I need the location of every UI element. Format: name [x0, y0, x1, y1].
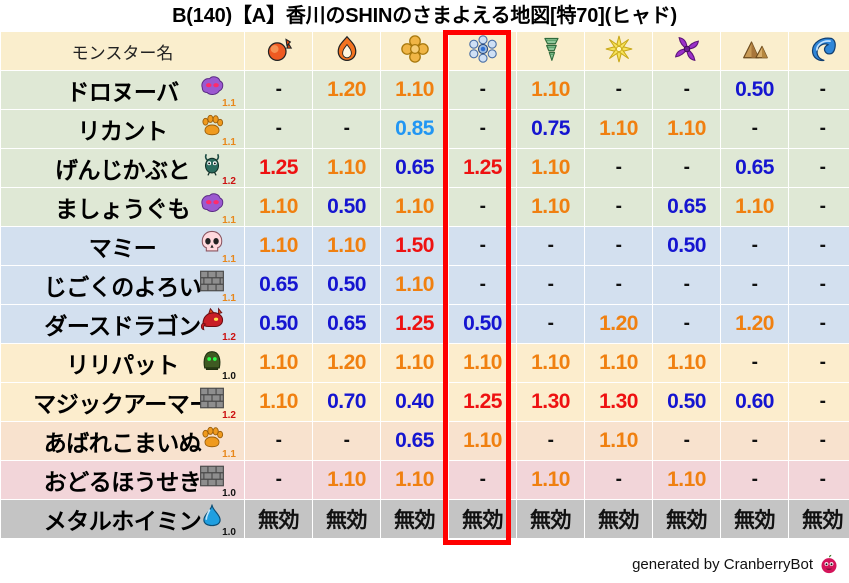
resistance-cell[interactable]: 1.10 — [653, 344, 720, 382]
resistance-value: 0.65 — [395, 156, 434, 179]
column-header-monster-name: モンスター名 — [1, 32, 244, 70]
resistance-cell[interactable]: 1.25 — [449, 383, 516, 421]
table-header: モンスター名 — [1, 32, 849, 70]
monster-icon-group: 1.1 — [196, 190, 236, 224]
resistance-value: 0.85 — [395, 117, 434, 140]
resistance-cell[interactable]: - — [653, 305, 720, 343]
table-row: おどるほうせき1.0-1.101.10-1.10-1.10-- — [1, 461, 849, 499]
resistance-value: 0.75 — [531, 117, 570, 140]
resistance-value: 1.50 — [395, 234, 434, 257]
resistance-cell[interactable]: - — [789, 383, 849, 421]
resistance-value: 0.65 — [395, 429, 434, 452]
resistance-cell[interactable]: 無効 — [721, 500, 788, 538]
monster-name-cell[interactable]: リカント1.1 — [1, 110, 244, 148]
table-row: リカント1.1--0.85-0.751.101.10-- — [1, 110, 849, 148]
resistance-cell[interactable]: - — [517, 266, 584, 304]
resistance-cell[interactable]: - — [585, 149, 652, 187]
skull-icon — [199, 229, 225, 255]
resistance-cell[interactable]: - — [789, 344, 849, 382]
resistance-value: - — [752, 118, 758, 139]
resistance-cell[interactable]: - — [653, 71, 720, 109]
table-row: げんじかぶと1.21.251.100.651.251.10--0.65- — [1, 149, 849, 187]
resistance-cell[interactable]: 1.20 — [313, 71, 380, 109]
resistance-cell[interactable]: 1.10 — [381, 188, 448, 226]
resistance-cell[interactable]: 1.10 — [517, 188, 584, 226]
resistance-value: - — [548, 274, 554, 295]
resistance-cell[interactable]: 1.50 — [381, 227, 448, 265]
monster-version-badge: 1.0 — [222, 489, 236, 499]
table-row: マミー1.11.101.101.50---0.50-- — [1, 227, 849, 265]
resistance-cell[interactable]: 無効 — [449, 500, 516, 538]
monster-icon-group: 1.1 — [196, 268, 236, 302]
resistance-value: 1.25 — [395, 312, 434, 335]
resistance-value: 1.10 — [735, 195, 774, 218]
monster-version-badge: 1.1 — [222, 99, 236, 109]
resistance-cell[interactable]: 1.10 — [449, 422, 516, 460]
resistance-cell[interactable]: 1.10 — [721, 188, 788, 226]
resistance-value: - — [820, 430, 826, 451]
resistance-value: 0.50 — [667, 390, 706, 413]
monster-name-label: メタルホイミン — [44, 502, 202, 536]
resistance-value: 1.10 — [395, 468, 434, 491]
resistance-cell[interactable]: 1.10 — [313, 227, 380, 265]
purple-blob-icon — [199, 73, 225, 99]
table-row: じごくのよろい1.10.650.501.10------ — [1, 266, 849, 304]
resistance-cell[interactable]: 1.10 — [517, 149, 584, 187]
monster-name-cell[interactable]: リリパット1.0 — [1, 344, 244, 382]
column-header-dark-vortex[interactable] — [653, 32, 720, 70]
resistance-cell[interactable]: - — [245, 422, 312, 460]
resistance-cell[interactable]: 0.50 — [449, 305, 516, 343]
resistance-value: - — [548, 430, 554, 451]
monster-name-label: あばれこまいぬ — [44, 424, 202, 458]
resistance-cell[interactable]: 1.10 — [517, 344, 584, 382]
resistance-cell[interactable]: 無効 — [313, 500, 380, 538]
resistance-value: 1.20 — [735, 312, 774, 335]
resistance-cell[interactable]: - — [585, 266, 652, 304]
resistance-cell[interactable]: 1.10 — [313, 149, 380, 187]
resistance-cell[interactable]: 1.10 — [245, 227, 312, 265]
paw-icon — [199, 424, 225, 450]
paw-icon — [199, 112, 225, 138]
monster-name-label: げんじかぶと — [55, 151, 190, 185]
monster-name-cell[interactable]: じごくのよろい1.1 — [1, 266, 244, 304]
resistance-value: - — [752, 235, 758, 256]
table-row: マジックアーマー1.21.100.700.401.251.301.300.500… — [1, 383, 849, 421]
resistance-value: 1.25 — [463, 390, 502, 413]
resistance-cell[interactable]: - — [789, 71, 849, 109]
resistance-cell[interactable]: 1.10 — [517, 461, 584, 499]
resistance-value: 0.50 — [667, 234, 706, 257]
resistance-cell[interactable]: - — [517, 422, 584, 460]
resistance-cell[interactable]: 1.20 — [313, 344, 380, 382]
resistance-cell[interactable]: - — [313, 422, 380, 460]
resistance-value: - — [276, 118, 282, 139]
resistance-value: 0.50 — [327, 195, 366, 218]
monster-icon-group: 1.1 — [196, 229, 236, 263]
resistance-value: 1.10 — [259, 351, 298, 374]
dark-vortex-icon — [673, 35, 701, 63]
resistance-value: 0.50 — [259, 312, 298, 335]
monster-name-label: ましょうぐも — [55, 190, 190, 224]
resistance-cell[interactable]: 1.20 — [585, 305, 652, 343]
resistance-value: 1.10 — [395, 78, 434, 101]
monster-icon-group: 1.1 — [196, 424, 236, 458]
resistance-cell[interactable]: - — [449, 227, 516, 265]
page-title: B(140)【A】香川のSHINのさまよえる地図[特70](ヒャド) — [0, 2, 849, 30]
resistance-cell[interactable]: 無効 — [585, 500, 652, 538]
resistance-value: - — [616, 157, 622, 178]
resistance-value: - — [752, 352, 758, 373]
resistance-cell[interactable]: 0.40 — [381, 383, 448, 421]
resistance-cell[interactable]: - — [721, 110, 788, 148]
cranberry-icon — [819, 554, 839, 574]
resistance-value: 無効 — [598, 509, 639, 532]
resistance-cell[interactable]: - — [585, 461, 652, 499]
header-row: モンスター名 — [1, 32, 849, 70]
resistance-cell[interactable]: 1.10 — [585, 344, 652, 382]
resistance-value: 0.65 — [259, 273, 298, 296]
resistance-value: - — [480, 469, 486, 490]
resistance-cell[interactable]: 1.10 — [245, 383, 312, 421]
resistance-value: - — [820, 118, 826, 139]
resistance-value: 0.60 — [735, 390, 774, 413]
resistance-value: - — [820, 235, 826, 256]
resistance-value: 1.30 — [531, 390, 570, 413]
resistance-cell[interactable]: 0.65 — [313, 305, 380, 343]
monster-icon-group: 1.0 — [196, 346, 236, 380]
resistance-value: 0.70 — [327, 390, 366, 413]
monster-name-label: おどるほうせき — [44, 463, 202, 497]
resistance-value: 1.10 — [667, 117, 706, 140]
resistance-value: 1.20 — [327, 78, 366, 101]
monster-version-badge: 1.1 — [222, 294, 236, 304]
screenshot-root: B(140)【A】香川のSHINのさまよえる地図[特70](ヒャド) モンスター… — [0, 0, 849, 583]
blue-slime-icon — [199, 502, 225, 528]
resistance-value: - — [820, 274, 826, 295]
resistance-cell[interactable]: - — [653, 149, 720, 187]
resistance-cell[interactable]: - — [653, 422, 720, 460]
resistance-cell[interactable]: - — [585, 188, 652, 226]
resistance-value: 0.65 — [735, 156, 774, 179]
footer-text: generated by CranberryBot — [632, 556, 813, 573]
resistance-value: 1.25 — [259, 156, 298, 179]
resistance-value: - — [820, 391, 826, 412]
resistance-value: 1.10 — [395, 351, 434, 374]
monster-name-label: リカント — [78, 112, 168, 146]
resistance-cell[interactable]: - — [789, 110, 849, 148]
monster-name-cell[interactable]: ドロヌーバ1.1 — [1, 71, 244, 109]
resistance-cell[interactable]: 1.30 — [517, 383, 584, 421]
resistance-value: 1.10 — [667, 468, 706, 491]
resistance-cell[interactable]: 1.10 — [653, 110, 720, 148]
resistance-value: - — [684, 313, 690, 334]
resistance-cell[interactable]: - — [245, 110, 312, 148]
resistance-value: - — [820, 79, 826, 100]
resistance-cell[interactable]: 0.65 — [245, 266, 312, 304]
monster-name-cell[interactable]: マミー1.1 — [1, 227, 244, 265]
monster-icon-group: 1.2 — [196, 307, 236, 341]
resistance-value: 1.10 — [463, 429, 502, 452]
resistance-value: 1.10 — [531, 195, 570, 218]
resistance-cell[interactable]: 0.60 — [721, 383, 788, 421]
table-row: リリパット1.01.101.201.101.101.101.101.10-- — [1, 344, 849, 382]
resistance-cell[interactable]: 無効 — [381, 500, 448, 538]
resistance-cell[interactable]: 0.50 — [313, 188, 380, 226]
resistance-cell[interactable]: - — [245, 461, 312, 499]
resistance-cell[interactable]: - — [789, 305, 849, 343]
column-header-light-flash[interactable] — [585, 32, 652, 70]
monster-version-badge: 1.0 — [222, 372, 236, 382]
resistance-cell[interactable]: 無効 — [517, 500, 584, 538]
purple-blob-icon — [199, 190, 225, 216]
flame-icon — [333, 35, 361, 63]
resistance-cell[interactable]: - — [449, 71, 516, 109]
resistance-value: 1.20 — [327, 351, 366, 374]
monster-icon-group: 1.2 — [196, 385, 236, 419]
resistance-value: - — [480, 235, 486, 256]
resistance-value: 無効 — [326, 509, 367, 532]
resistance-value: - — [752, 430, 758, 451]
resistance-value: 無効 — [530, 509, 571, 532]
light-flash-icon — [605, 35, 633, 63]
resistance-cell[interactable]: 0.75 — [517, 110, 584, 148]
resistance-value: - — [616, 79, 622, 100]
monster-version-badge: 1.0 — [222, 528, 236, 538]
monster-version-badge: 1.2 — [222, 177, 236, 187]
resistance-cell[interactable]: - — [585, 71, 652, 109]
monster-name-cell[interactable]: げんじかぶと1.2 — [1, 149, 244, 187]
resistance-value: - — [344, 430, 350, 451]
resistance-cell[interactable]: 1.20 — [721, 305, 788, 343]
resistance-value: 1.10 — [327, 468, 366, 491]
resistance-cell[interactable]: 0.65 — [381, 149, 448, 187]
resistance-cell[interactable]: - — [721, 266, 788, 304]
resistance-cell[interactable]: - — [313, 110, 380, 148]
resistance-cell[interactable]: 無効 — [245, 500, 312, 538]
resistance-cell[interactable]: 1.25 — [381, 305, 448, 343]
resistance-value: - — [752, 274, 758, 295]
column-header-water-wave[interactable] — [789, 32, 849, 70]
resistance-value: 1.10 — [395, 195, 434, 218]
monster-version-badge: 1.1 — [222, 216, 236, 226]
resistance-cell[interactable]: 0.50 — [721, 71, 788, 109]
resistance-value: 1.10 — [463, 351, 502, 374]
resistance-cell[interactable]: 1.10 — [381, 266, 448, 304]
resistance-cell[interactable]: - — [721, 422, 788, 460]
resistance-cell[interactable]: - — [721, 461, 788, 499]
brick-wall-icon — [199, 268, 225, 294]
resistance-cell[interactable]: 1.25 — [449, 149, 516, 187]
green-helmet-icon — [199, 346, 225, 372]
monster-name-label: マジックアーマー — [33, 385, 212, 419]
resistance-value: - — [684, 157, 690, 178]
earth-rock-icon — [741, 35, 769, 63]
resistance-value: 1.10 — [531, 351, 570, 374]
monster-name-cell[interactable]: ダースドラゴン1.2 — [1, 305, 244, 343]
footer-credit: generated by CranberryBot — [632, 551, 839, 577]
resistance-cell[interactable]: 1.10 — [653, 461, 720, 499]
monster-icon-group: 1.1 — [196, 73, 236, 107]
resistance-value: - — [480, 196, 486, 217]
resistance-cell[interactable]: - — [789, 149, 849, 187]
ice-crystal-icon — [469, 35, 497, 63]
meteor-fire-icon — [265, 35, 293, 63]
resistance-cell[interactable]: - — [789, 188, 849, 226]
resistance-cell[interactable]: - — [789, 227, 849, 265]
resistance-value: 1.10 — [259, 195, 298, 218]
resistance-value: - — [616, 235, 622, 256]
resistance-value: 0.50 — [463, 312, 502, 335]
resistance-value: 1.10 — [599, 351, 638, 374]
resistance-cell[interactable]: - — [449, 461, 516, 499]
monster-name-cell[interactable]: マジックアーマー1.2 — [1, 383, 244, 421]
resistance-table-container: モンスター名 ドロヌーバ1.1-1.201.10-1.10--0.50-リカント… — [0, 31, 849, 539]
resistance-value: - — [820, 313, 826, 334]
monster-version-badge: 1.1 — [222, 450, 236, 460]
monster-name-label: じごくのよろい — [44, 268, 202, 302]
resistance-value: 1.10 — [599, 117, 638, 140]
table-row: ドロヌーバ1.1-1.201.10-1.10--0.50- — [1, 71, 849, 109]
monster-name-cell[interactable]: あばれこまいぬ1.1 — [1, 422, 244, 460]
resistance-value: 1.10 — [599, 429, 638, 452]
resistance-value: - — [548, 235, 554, 256]
resistance-value: 1.30 — [599, 390, 638, 413]
resistance-value: 無効 — [258, 509, 299, 532]
resistance-value: 1.20 — [599, 312, 638, 335]
resistance-cell[interactable]: 1.10 — [381, 344, 448, 382]
resistance-cell[interactable]: 1.25 — [245, 149, 312, 187]
resistance-cell[interactable]: 0.65 — [721, 149, 788, 187]
monster-icon-group: 1.0 — [196, 502, 236, 536]
resistance-cell[interactable]: 1.30 — [585, 383, 652, 421]
resistance-value: 無効 — [734, 509, 775, 532]
resistance-cell[interactable]: 1.10 — [449, 344, 516, 382]
resistance-value: - — [480, 274, 486, 295]
resistance-value: 1.25 — [463, 156, 502, 179]
resistance-cell[interactable]: 0.50 — [653, 383, 720, 421]
red-dragon-icon — [199, 307, 225, 333]
resistance-cell[interactable]: - — [245, 71, 312, 109]
resistance-value: 1.10 — [531, 156, 570, 179]
resistance-value: 1.10 — [531, 78, 570, 101]
brick-wall-icon — [199, 463, 225, 489]
column-header-ice-crystal[interactable] — [449, 32, 516, 70]
resistance-value: - — [684, 274, 690, 295]
resistance-cell[interactable]: - — [449, 188, 516, 226]
resistance-value: 無効 — [666, 509, 707, 532]
table-row: ましょうぐも1.11.100.501.10-1.10-0.651.10- — [1, 188, 849, 226]
resistance-value: - — [616, 196, 622, 217]
resistance-value: 1.10 — [327, 234, 366, 257]
resistance-value: 0.40 — [395, 390, 434, 413]
resistance-cell[interactable]: 1.10 — [517, 71, 584, 109]
resistance-cell[interactable]: 0.65 — [381, 422, 448, 460]
brick-wall-icon — [199, 385, 225, 411]
resistance-value: 1.10 — [259, 390, 298, 413]
column-header-tornado[interactable] — [517, 32, 584, 70]
column-header-flame[interactable] — [313, 32, 380, 70]
table-body: ドロヌーバ1.1-1.201.10-1.10--0.50-リカント1.1--0.… — [1, 71, 849, 538]
resistance-value: 無効 — [802, 509, 843, 532]
resistance-cell[interactable]: 1.10 — [585, 110, 652, 148]
resistance-cell[interactable]: 1.10 — [585, 422, 652, 460]
column-header-explosion[interactable] — [381, 32, 448, 70]
resistance-cell[interactable]: 0.65 — [653, 188, 720, 226]
monster-version-badge: 1.1 — [222, 138, 236, 148]
resistance-cell[interactable]: - — [517, 305, 584, 343]
column-header-earth-rock[interactable] — [721, 32, 788, 70]
table-row: あばれこまいぬ1.1--0.651.10-1.10--- — [1, 422, 849, 460]
monster-name-label: リリパット — [66, 346, 179, 380]
resistance-value: 1.10 — [667, 351, 706, 374]
monster-name-label: ダースドラゴン — [44, 307, 200, 341]
resistance-value: - — [684, 430, 690, 451]
resistance-value: - — [820, 157, 826, 178]
resistance-value: - — [684, 79, 690, 100]
monster-name-cell[interactable]: ましょうぐも1.1 — [1, 188, 244, 226]
column-header-meteor-fire[interactable] — [245, 32, 312, 70]
resistance-value: - — [480, 118, 486, 139]
resistance-cell[interactable]: 1.10 — [381, 461, 448, 499]
resistance-cell[interactable]: - — [449, 110, 516, 148]
resistance-value: - — [548, 313, 554, 334]
resistance-value: - — [820, 196, 826, 217]
resistance-cell[interactable]: 1.10 — [381, 71, 448, 109]
monster-name-cell[interactable]: メタルホイミン1.0 — [1, 500, 244, 538]
resistance-cell[interactable]: - — [721, 344, 788, 382]
resistance-value: - — [820, 352, 826, 373]
explosion-icon — [401, 35, 429, 63]
resistance-cell[interactable]: 1.10 — [245, 188, 312, 226]
resistance-cell[interactable]: 1.10 — [245, 344, 312, 382]
table-row: メタルホイミン1.0無効無効無効無効無効無効無効無効無効 — [1, 500, 849, 538]
resistance-cell[interactable]: - — [789, 266, 849, 304]
resistance-value: 1.10 — [531, 468, 570, 491]
resistance-cell[interactable]: - — [789, 422, 849, 460]
resistance-value: - — [344, 118, 350, 139]
resistance-cell[interactable]: - — [653, 266, 720, 304]
monster-name-label: ドロヌーバ — [66, 73, 178, 107]
monster-name-cell[interactable]: おどるほうせき1.0 — [1, 461, 244, 499]
resistance-cell[interactable]: 無効 — [789, 500, 849, 538]
monster-icon-group: 1.2 — [196, 151, 236, 185]
monster-icon-group: 1.0 — [196, 463, 236, 497]
resistance-cell[interactable]: 0.70 — [313, 383, 380, 421]
resistance-cell[interactable]: - — [585, 227, 652, 265]
resistance-cell[interactable]: 1.10 — [313, 461, 380, 499]
resistance-value: 無効 — [394, 509, 435, 532]
resistance-cell[interactable]: - — [789, 461, 849, 499]
water-wave-icon — [809, 35, 837, 63]
resistance-cell[interactable]: 0.50 — [313, 266, 380, 304]
resistance-cell[interactable]: - — [449, 266, 516, 304]
beetle-icon — [199, 151, 225, 177]
resistance-cell[interactable]: - — [517, 227, 584, 265]
monster-version-badge: 1.2 — [222, 411, 236, 421]
resistance-cell[interactable]: 0.50 — [653, 227, 720, 265]
resistance-value: 無効 — [462, 509, 503, 532]
resistance-cell[interactable]: 0.50 — [245, 305, 312, 343]
resistance-cell[interactable]: 無効 — [653, 500, 720, 538]
resistance-value: 0.65 — [327, 312, 366, 335]
resistance-value: 1.10 — [395, 273, 434, 296]
resistance-cell[interactable]: - — [721, 227, 788, 265]
resistance-cell[interactable]: 0.85 — [381, 110, 448, 148]
resistance-value: - — [820, 469, 826, 490]
resistance-value: - — [276, 79, 282, 100]
resistance-value: 0.50 — [735, 78, 774, 101]
